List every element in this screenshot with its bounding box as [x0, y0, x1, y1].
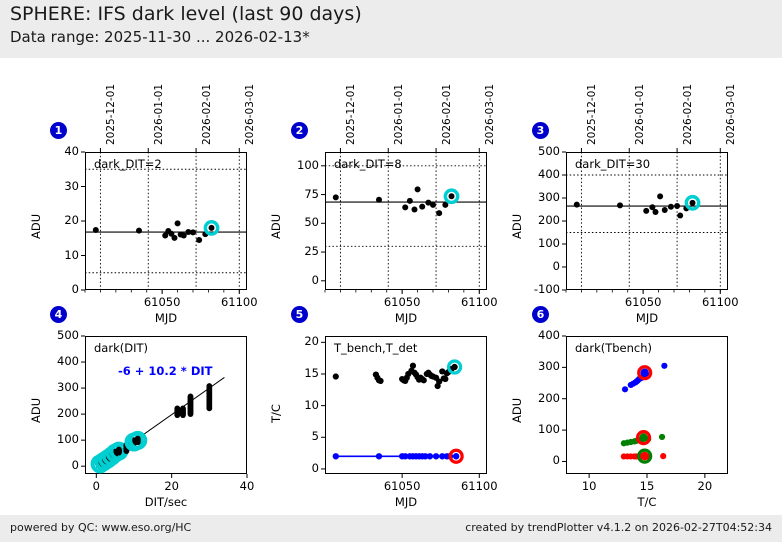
panel-annotation-6: dark(Tbench) [575, 341, 652, 355]
ytick-label-6-1: 100 [522, 422, 560, 436]
footer-credit-left: powered by QC: www.eso.org/HC [10, 521, 191, 534]
plot-graphics-6 [0, 58, 782, 515]
ytick-label-6-3: 300 [522, 359, 560, 373]
ytick-label-6-0: 0 [522, 453, 560, 467]
chart-panel-6: 60100200300400101520ADUT/Cdark(Tbench) [0, 58, 782, 515]
y-axis-label-6: ADU [510, 398, 524, 423]
page-title: SPHERE: IFS dark level (last 90 days) [10, 3, 362, 25]
xtick-label-6-1: 15 [617, 479, 677, 493]
xtick-label-6-0: 10 [559, 479, 619, 493]
plot-canvas: 101020304061050611002025-12-012026-01-01… [0, 58, 782, 515]
page-subtitle: Data range: 2025-11-30 ... 2026-02-13* [10, 28, 310, 46]
x-axis-label-6: T/C [566, 495, 728, 509]
ytick-label-6-4: 400 [522, 328, 560, 342]
page-header: SPHERE: IFS dark level (last 90 days) Da… [0, 0, 782, 58]
xtick-label-6-2: 20 [675, 479, 735, 493]
page-footer: powered by QC: www.eso.org/HC created by… [0, 515, 782, 542]
footer-credit-right: created by trendPlotter v4.1.2 on 2026-0… [465, 521, 772, 534]
ytick-label-6-2: 200 [522, 391, 560, 405]
